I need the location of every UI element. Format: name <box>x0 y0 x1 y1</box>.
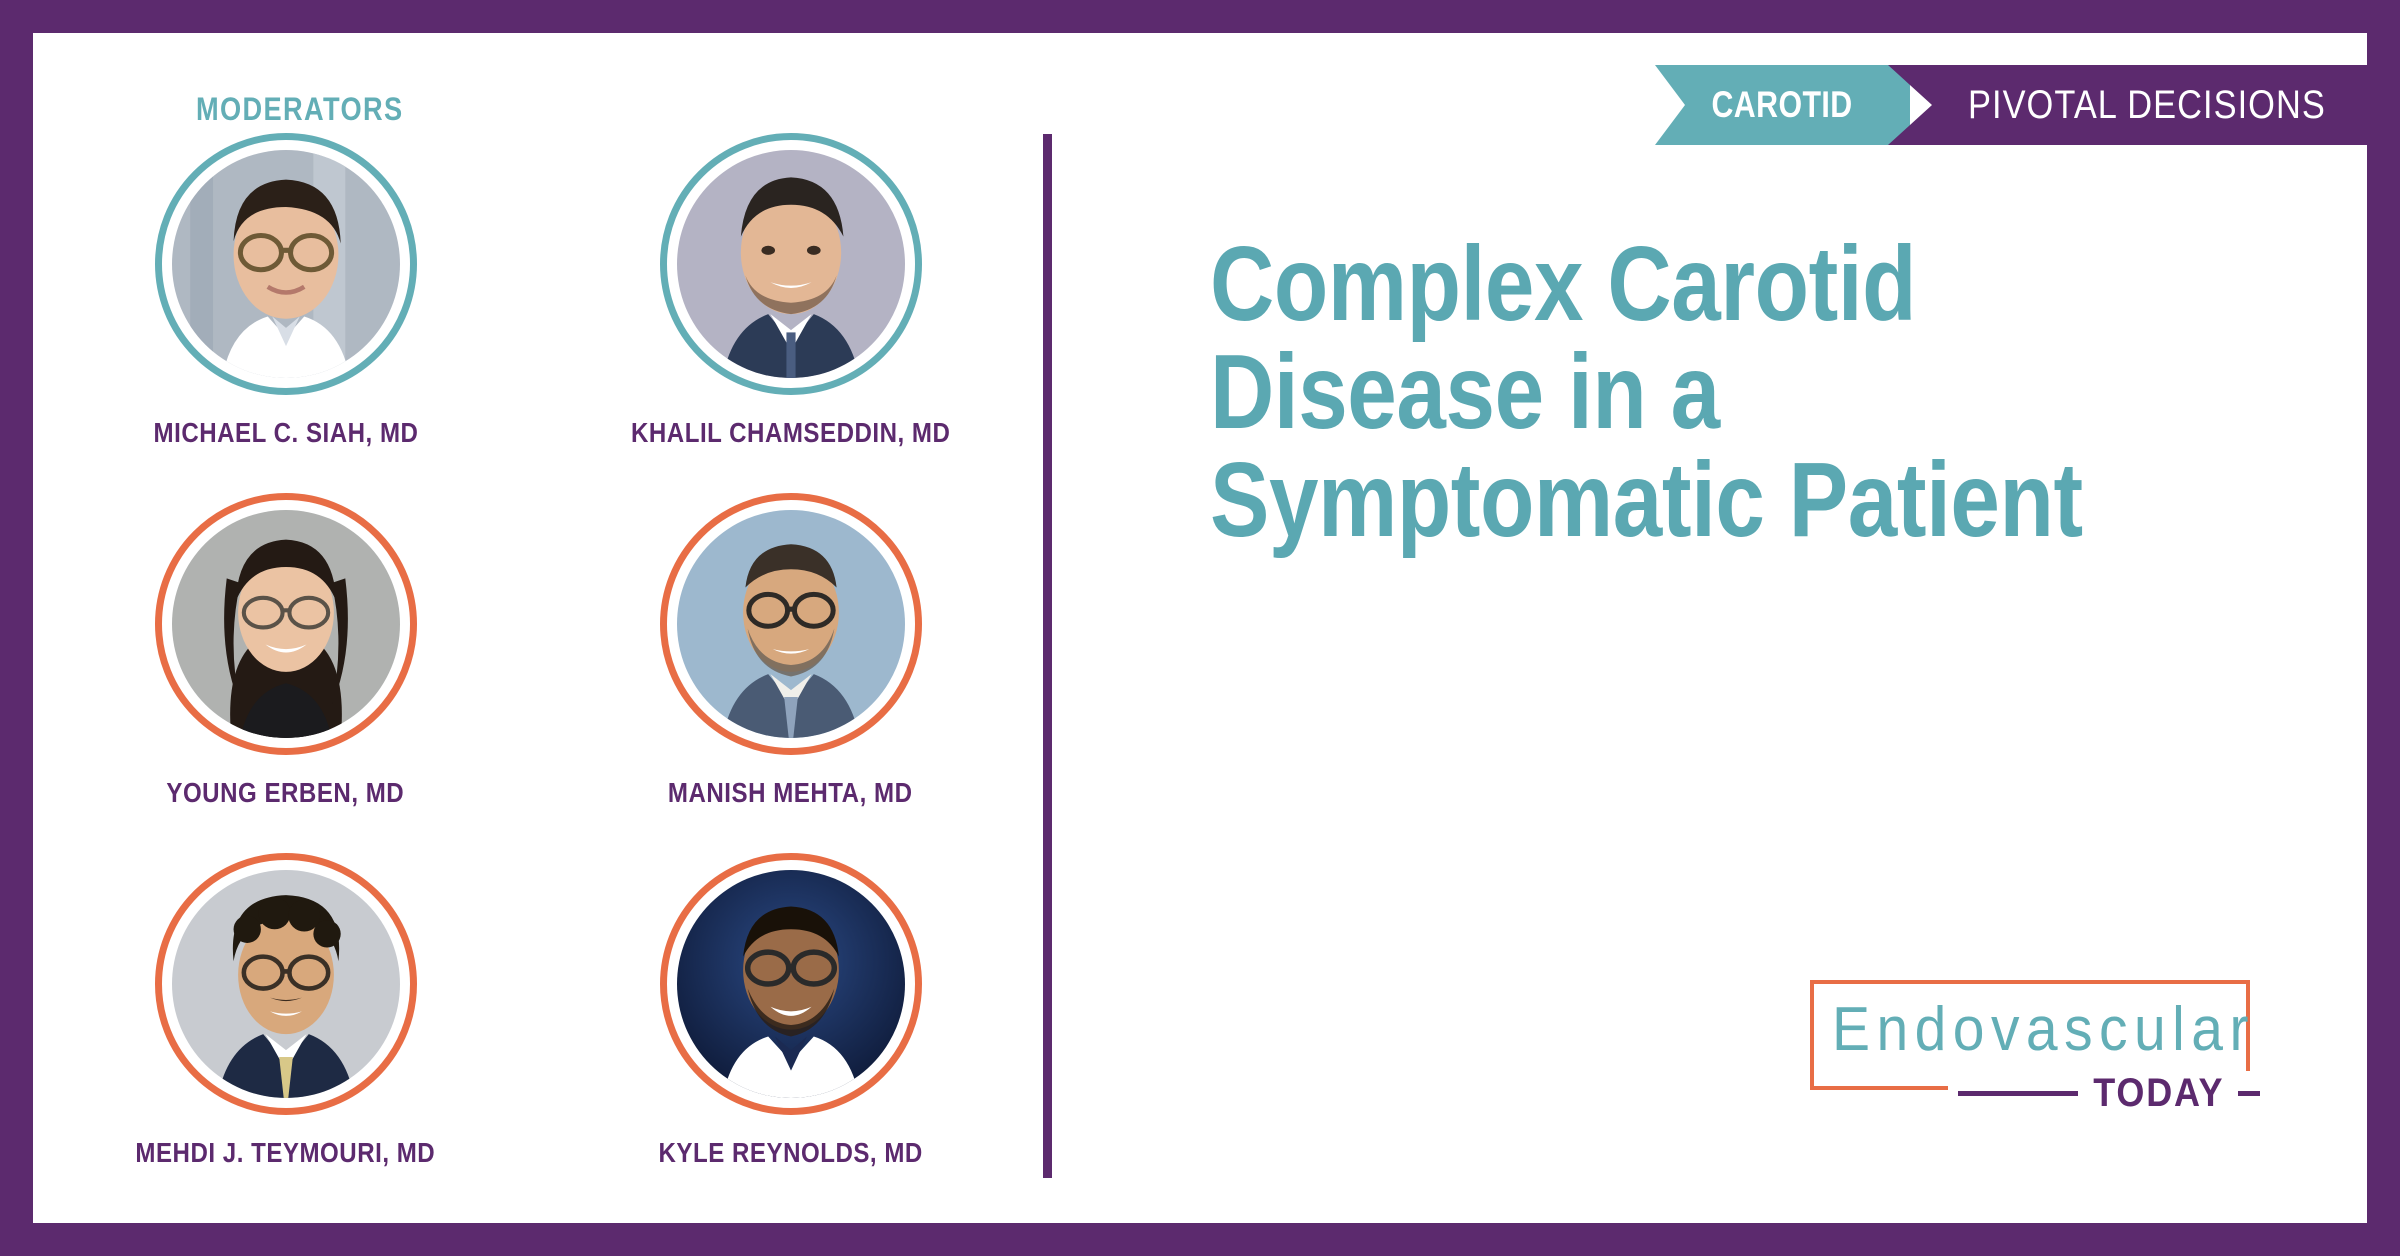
avatar-photo <box>172 510 400 738</box>
page-title: Complex Carotid Disease in a Symptomatic… <box>1210 230 2319 554</box>
person-card[interactable]: MEHDI J. TEYMOURI, MD <box>33 853 538 1213</box>
header-banner: CAROTID PIVOTAL DECISIONS <box>1655 65 2400 145</box>
avatar <box>660 493 922 755</box>
logo-rule-right <box>2238 1091 2260 1096</box>
pivotal-decisions-banner: PIVOTAL DECISIONS <box>1888 65 2400 145</box>
person-card[interactable]: MANISH MEHTA, MD <box>538 493 1043 853</box>
avatar <box>155 853 417 1115</box>
portrait-icon <box>677 870 905 1098</box>
portrait-icon <box>172 150 400 378</box>
pivotal-decisions-label: PIVOTAL DECISIONS <box>1968 83 2326 128</box>
avatar-photo <box>172 870 400 1098</box>
title-line: Complex Carotid <box>1210 230 2319 338</box>
content-panel: Complex Carotid Disease in a Symptomatic… <box>1210 180 2330 1180</box>
person-card[interactable]: YOUNG ERBEN, MD <box>33 493 538 853</box>
logo-rule-left <box>1958 1091 2078 1096</box>
endovascular-today-logo[interactable]: Endovascular TODAY <box>1810 980 2250 1100</box>
title-line: Disease in a <box>1210 338 2319 446</box>
person-name: MICHAEL C. SIAH, MD <box>153 417 418 449</box>
person-name: YOUNG ERBEN, MD <box>167 777 405 809</box>
avatar-photo <box>172 150 400 378</box>
person-name: KHALIL CHAMSEDDIN, MD <box>631 417 950 449</box>
moderators-section-label: MODERATORS <box>196 91 404 128</box>
person-name: MANISH MEHTA, MD <box>668 777 913 809</box>
logo-brand-text: Endovascular <box>1832 994 2255 1065</box>
avatar <box>155 133 417 395</box>
carotid-badge[interactable]: CAROTID <box>1655 65 1910 145</box>
avatar-photo <box>677 150 905 378</box>
avatar <box>155 493 417 755</box>
portrait-icon <box>677 510 905 738</box>
vertical-divider <box>1043 134 1052 1178</box>
person-card[interactable]: KYLE REYNOLDS, MD <box>538 853 1043 1213</box>
avatar-photo <box>677 510 905 738</box>
person-name: KYLE REYNOLDS, MD <box>658 1137 922 1169</box>
carotid-badge-label: CAROTID <box>1712 84 1853 126</box>
title-line: Symptomatic Patient <box>1210 446 2319 554</box>
person-card[interactable]: MICHAEL C. SIAH, MD <box>33 133 538 493</box>
portrait-icon <box>172 870 400 1098</box>
avatar <box>660 853 922 1115</box>
avatar-photo <box>677 870 905 1098</box>
logo-today-group: TODAY <box>1948 1071 2264 1116</box>
slide-root: CAROTID PIVOTAL DECISIONS MODERATORS <box>0 0 2400 1256</box>
logo-suffix-text: TODAY <box>2094 1071 2225 1116</box>
portrait-icon <box>677 150 905 378</box>
moderators-panel: MODERATORS <box>33 33 1043 1223</box>
avatar <box>660 133 922 395</box>
person-card[interactable]: KHALIL CHAMSEDDIN, MD <box>538 133 1043 493</box>
person-name: MEHDI J. TEYMOURI, MD <box>136 1137 436 1169</box>
portrait-icon <box>172 510 400 738</box>
people-grid: MICHAEL C. SIAH, MD <box>33 133 1043 1213</box>
